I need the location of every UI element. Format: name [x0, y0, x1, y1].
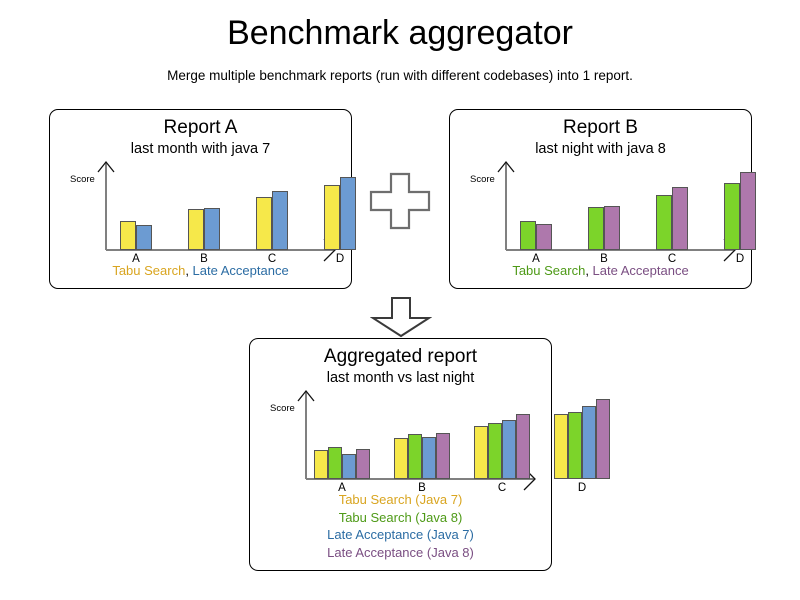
report-b-title: Report B [450, 117, 751, 139]
report-a-subtitle: last month with java 7 [50, 141, 351, 158]
report-b-subtitle: last night with java 8 [450, 141, 751, 158]
plus-icon [365, 170, 435, 232]
bar [120, 221, 136, 250]
bar [724, 183, 740, 250]
bar [256, 197, 272, 250]
report-a-title: Report A [50, 117, 351, 139]
aggregated-chart: ScoreABCD [250, 387, 553, 492]
legend-item: Late Acceptance (Java 7) [250, 526, 551, 544]
aggregated-report-card[interactable]: Aggregated report last month vs last nig… [249, 338, 552, 571]
bar [328, 447, 342, 479]
bar [516, 414, 530, 479]
x-axis-category-label: D [578, 482, 586, 494]
bar [394, 438, 408, 479]
bar [582, 406, 596, 479]
legend-separator: , [585, 263, 592, 278]
bar [604, 206, 620, 250]
bar [554, 414, 568, 479]
bar [596, 399, 610, 479]
bar [272, 191, 288, 250]
bar [520, 221, 536, 250]
page-subtitle: Merge multiple benchmark reports (run wi… [0, 68, 800, 83]
down-arrow-icon [370, 296, 432, 338]
report-a-legend: Tabu Search, Late Acceptance [50, 262, 351, 280]
legend-item: Late Acceptance [193, 263, 289, 278]
bar [136, 225, 152, 250]
diagram-canvas: Benchmark aggregator Merge multiple benc… [0, 0, 800, 600]
bar [502, 420, 516, 479]
y-axis-label: Score [70, 174, 95, 185]
aggregated-report-title: Aggregated report [250, 346, 551, 368]
bar [342, 454, 356, 479]
bar [324, 185, 340, 250]
report-b-chart: ScoreABCD [450, 158, 753, 263]
legend-item: Tabu Search [512, 263, 585, 278]
bar [408, 434, 422, 479]
bar [488, 423, 502, 479]
bar [740, 172, 756, 250]
aggregated-report-legend: Tabu Search (Java 7)Tabu Search (Java 8)… [250, 491, 551, 561]
report-a-card[interactable]: Report A last month with java 7 ScoreABC… [49, 109, 352, 289]
bar [436, 433, 450, 479]
bar [314, 450, 328, 479]
y-axis-label: Score [270, 403, 295, 414]
y-axis-label: Score [470, 174, 495, 185]
bar [356, 449, 370, 479]
bar [422, 437, 436, 479]
bar [204, 208, 220, 250]
bar [672, 187, 688, 250]
legend-item: Tabu Search [112, 263, 185, 278]
bar [188, 209, 204, 250]
bar [568, 412, 582, 479]
bar [340, 177, 356, 250]
bar [588, 207, 604, 250]
bar [536, 224, 552, 250]
report-b-legend: Tabu Search, Late Acceptance [450, 262, 751, 280]
bar [474, 426, 488, 479]
aggregated-report-subtitle: last month vs last night [250, 370, 551, 387]
report-a-chart: ScoreABCD [50, 158, 353, 263]
legend-item: Late Acceptance [593, 263, 689, 278]
page-title: Benchmark aggregator [0, 14, 800, 53]
legend-item: Late Acceptance (Java 8) [250, 544, 551, 562]
legend-item: Tabu Search (Java 8) [250, 509, 551, 527]
report-b-card[interactable]: Report B last night with java 8 ScoreABC… [449, 109, 752, 289]
legend-item: Tabu Search (Java 7) [250, 491, 551, 509]
bar [656, 195, 672, 250]
legend-separator: , [185, 263, 192, 278]
